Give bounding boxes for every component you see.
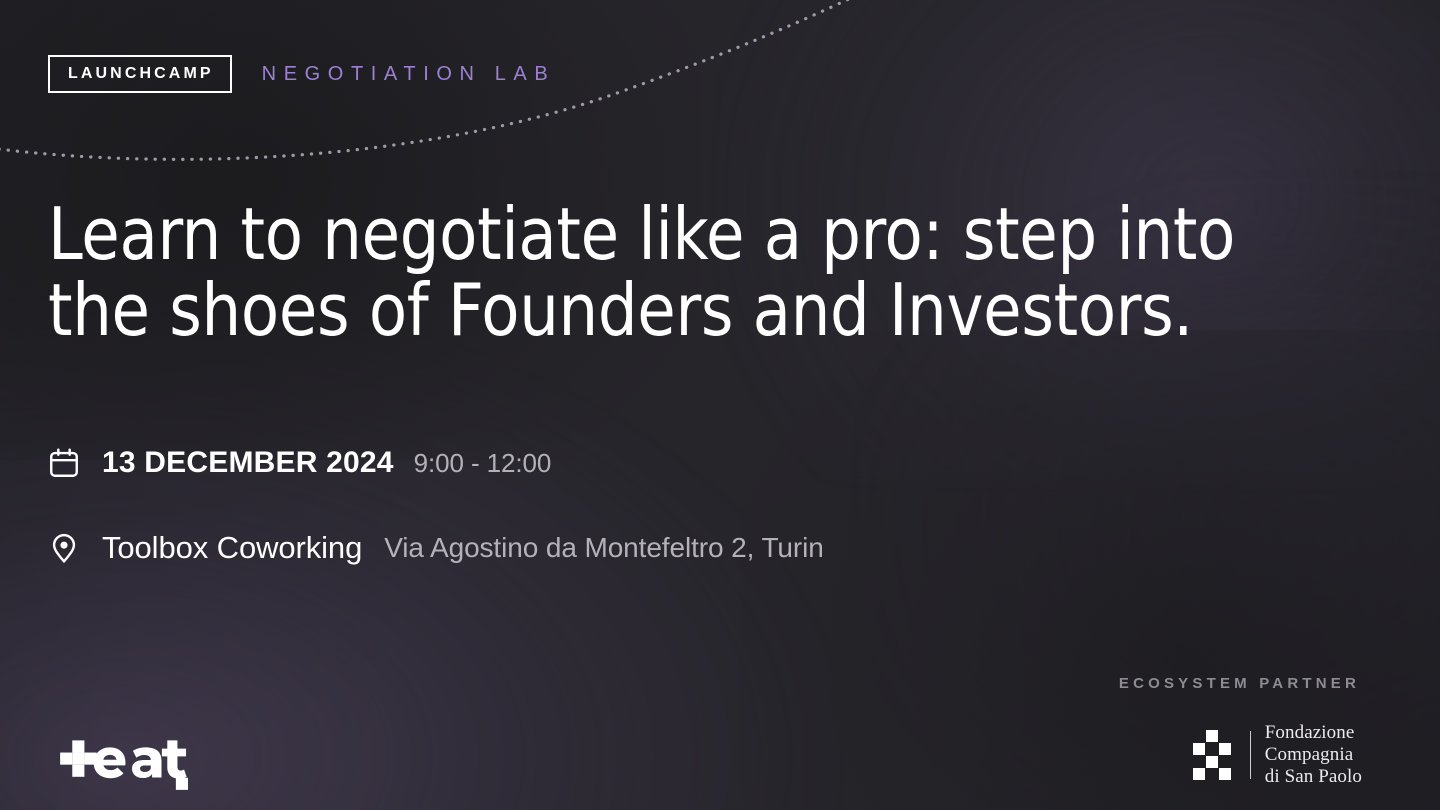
program-subtitle: NEGOTIATION LAB [262, 64, 556, 84]
location-row: Toolbox Coworking Via Agostino da Montef… [46, 521, 824, 575]
date-row: 13 DECEMBER 2024 9:00 - 12:00 [46, 436, 824, 490]
map-pin-icon [46, 530, 82, 566]
eat-logo [48, 724, 188, 796]
ecosystem-partner-label: ECOSYSTEM PARTNER [1119, 675, 1360, 692]
partner-name: Fondazione Compagnia di San Paolo [1265, 722, 1362, 788]
checkerboard-mark-icon [1190, 729, 1236, 781]
launchcamp-label: LAUNCHCAMP [68, 66, 214, 82]
calendar-icon [46, 445, 82, 481]
logo-divider [1250, 731, 1251, 779]
event-date: 13 DECEMBER 2024 [102, 446, 394, 480]
header: LAUNCHCAMP NEGOTIATION LAB [48, 55, 555, 93]
page-title: Learn to negotiate like a pro: step into… [48, 196, 1303, 349]
fondazione-compagnia-di-san-paolo-logo: Fondazione Compagnia di San Paolo [1119, 722, 1362, 788]
event-time: 9:00 - 12:00 [414, 448, 552, 479]
event-slide: LAUNCHCAMP NEGOTIATION LAB Learn to nego… [0, 0, 1440, 810]
launchcamp-logo: LAUNCHCAMP [48, 55, 232, 93]
event-venue: Toolbox Coworking [102, 530, 362, 566]
event-details: 13 DECEMBER 2024 9:00 - 12:00 Toolbox Co… [46, 436, 824, 575]
event-address: Via Agostino da Montefeltro 2, Turin [384, 532, 824, 564]
ecosystem-partner-block: ECOSYSTEM PARTNER Fondazione Compagnia d… [1119, 675, 1362, 788]
